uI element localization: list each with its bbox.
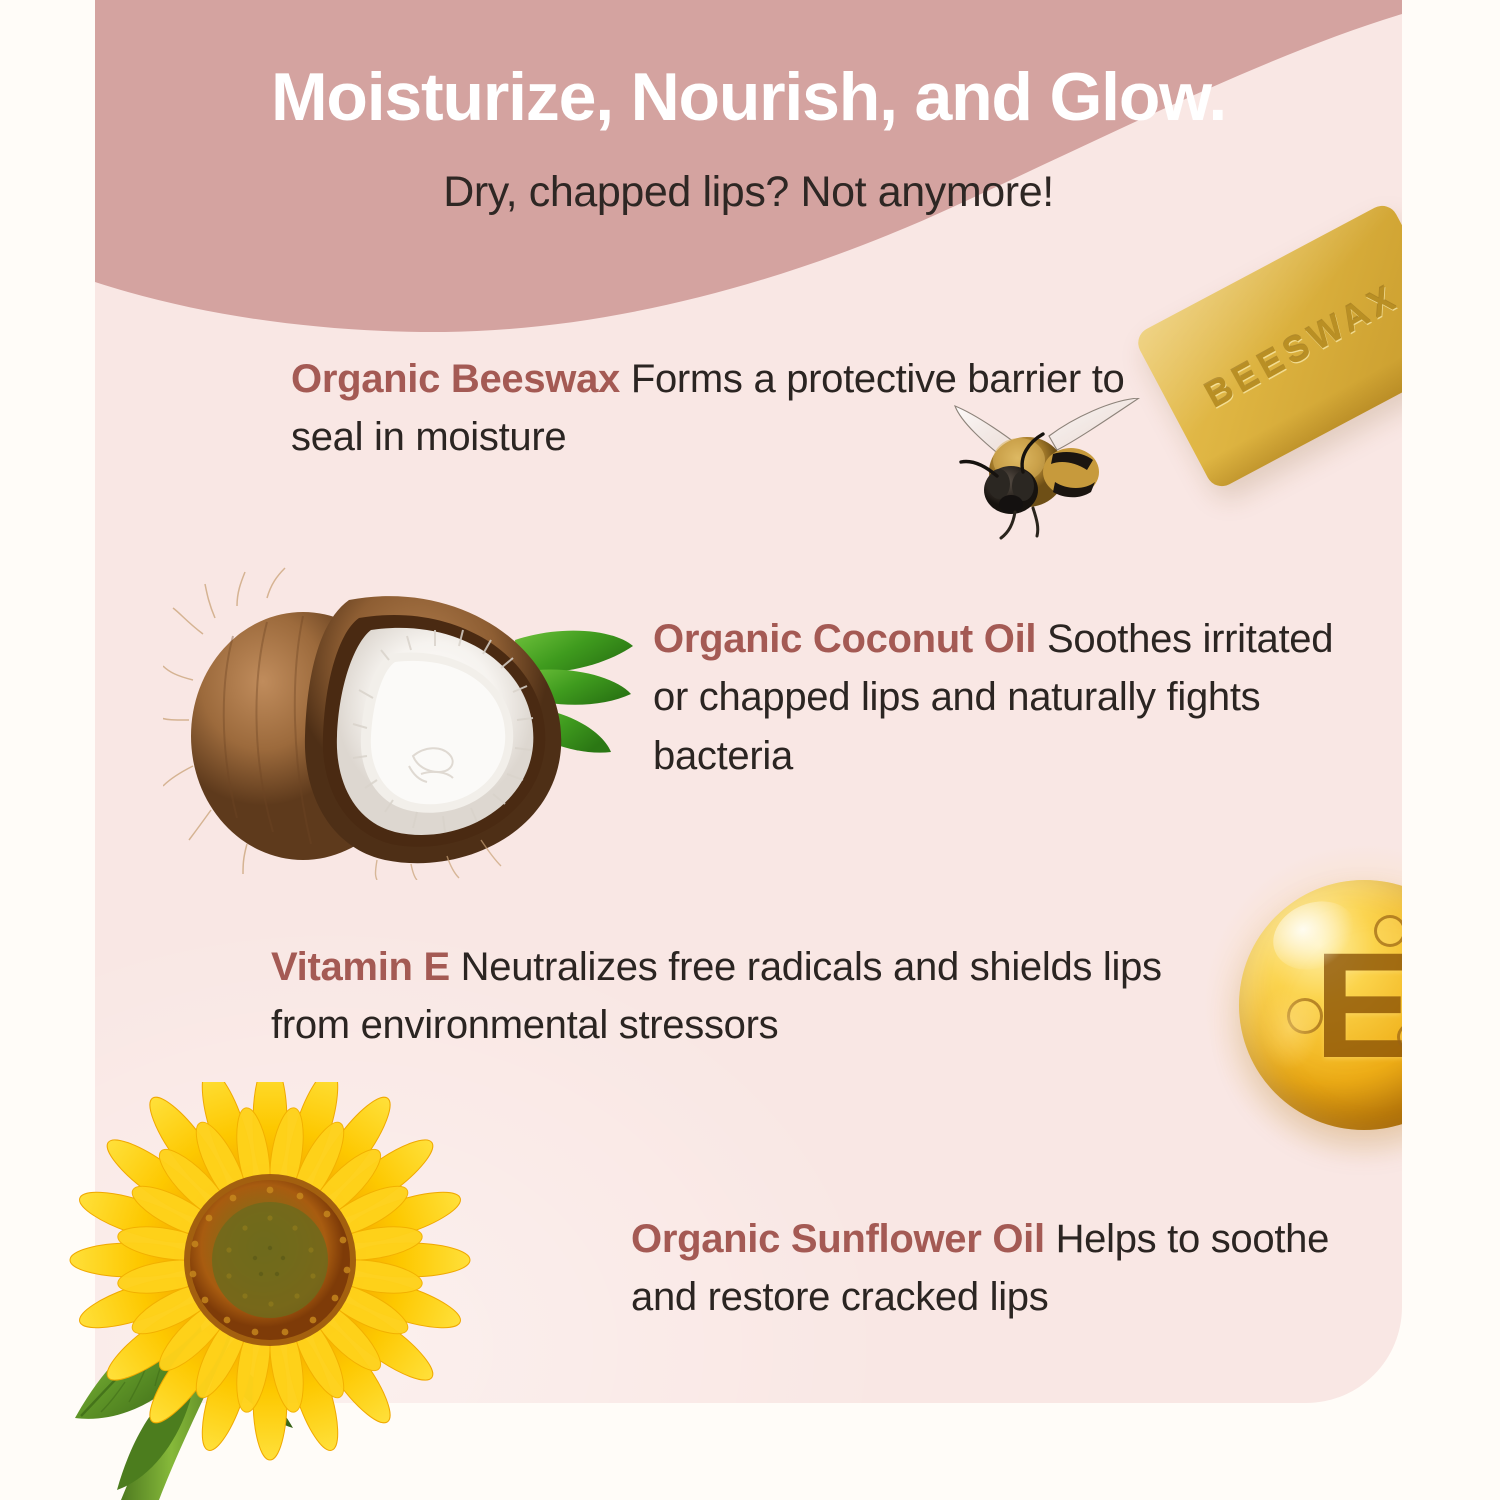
ingredient-text-coconut-oil: Organic Coconut Oil Soothes irritated or…: [653, 610, 1373, 785]
page-title: Moisturize, Nourish, and Glow.: [95, 62, 1402, 133]
coconut-image: [163, 560, 633, 880]
vitamin-e-droplet-image: E: [1239, 880, 1402, 1130]
ingredient-name-beeswax: Organic Beeswax: [291, 357, 631, 401]
sunflower-image: [55, 1082, 485, 1500]
ingredient-text-beeswax: Organic Beeswax Forms a protective barri…: [291, 350, 1171, 467]
vitamin-e-bubble-top: [1374, 915, 1402, 947]
page-subtitle: Dry, chapped lips? Not anymore!: [95, 168, 1402, 217]
vitamin-e-secondary-highlight: [1259, 985, 1319, 1070]
ingredient-name-coconut-oil: Organic Coconut Oil: [653, 617, 1047, 661]
ingredient-text-vitamin-e: Vitamin E Neutralizes free radicals and …: [271, 938, 1241, 1055]
beeswax-embossed-label: BEESWAX: [1198, 276, 1402, 417]
infographic-canvas: Moisturize, Nourish, and Glow. Dry, chap…: [0, 0, 1500, 1500]
ingredient-text-sunflower-oil: Organic Sunflower Oil Helps to soothe an…: [631, 1210, 1391, 1327]
ingredient-name-sunflower-oil: Organic Sunflower Oil: [631, 1217, 1056, 1261]
ingredient-name-vitamin-e: Vitamin E: [271, 945, 461, 989]
